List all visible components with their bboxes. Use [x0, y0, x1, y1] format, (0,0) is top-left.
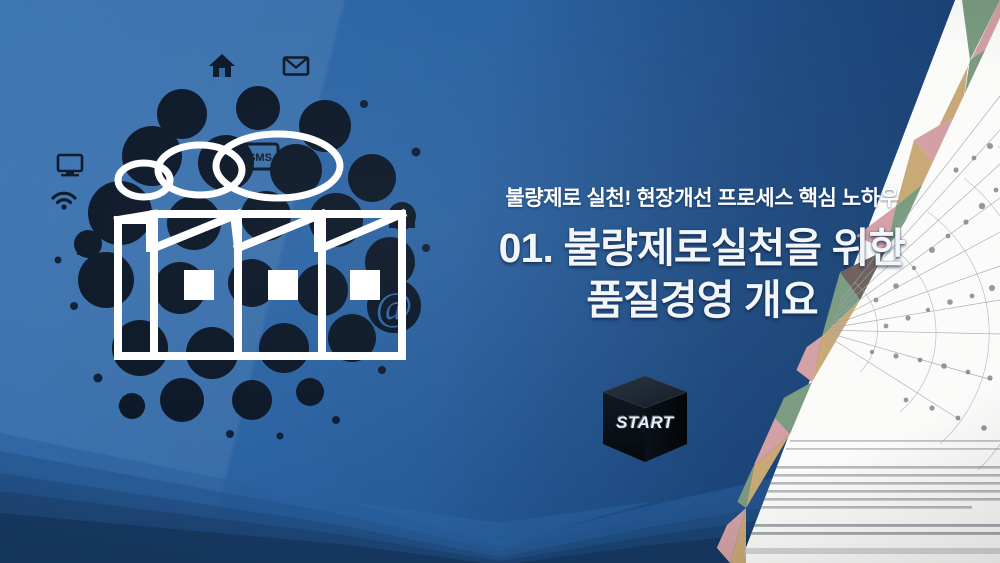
start-cube-icon [597, 372, 693, 468]
slide-title-line-1: 01. 불량제로실천을 위한 [499, 225, 906, 271]
slide-subtitle: 불량제로 실천! 현장개선 프로세스 핵심 노하우 [452, 186, 952, 211]
slide-text-block: 불량제로 실천! 현장개선 프로세스 핵심 노하우 01. 불량제로실천을 위한… [452, 186, 952, 327]
slide-title: 01. 불량제로실천을 위한 품질경영 개요 [452, 223, 952, 326]
slide-title-line-2: 품질경영 개요 [452, 275, 952, 327]
presentation-slide: @ SMS [0, 0, 1000, 563]
start-button[interactable]: START [597, 372, 693, 468]
